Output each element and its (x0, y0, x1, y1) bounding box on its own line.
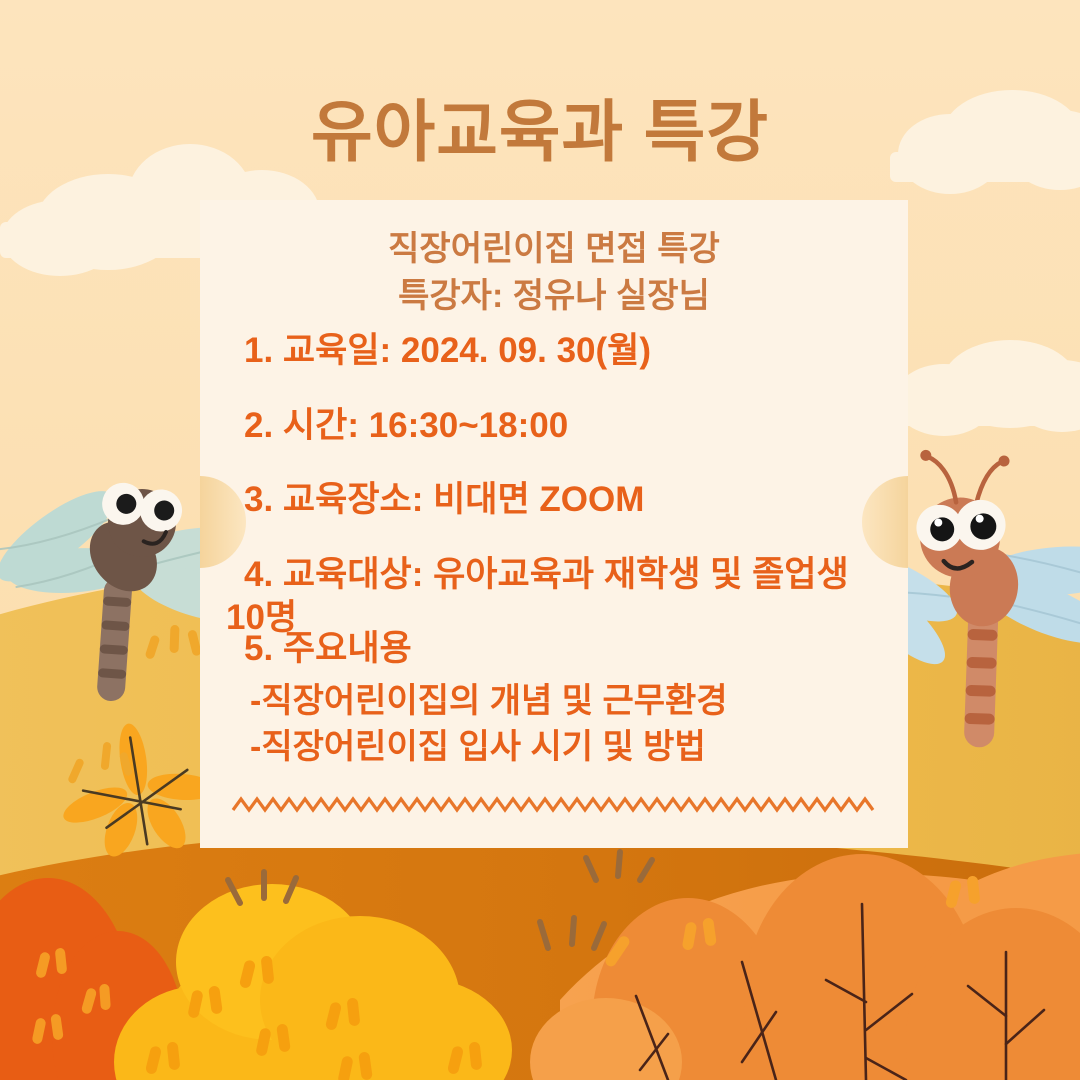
poster-canvas: 유아교육과 특강 직장어린이집 면접 특강 특강자: 정유나 실장님 1. 교육… (0, 0, 1080, 1080)
detail-item-time: 2. 시간: 16:30~18:00 (244, 405, 892, 448)
tree-orange-group (530, 852, 1080, 1080)
subtitle-line-2: 특강자: 정유나 실장님 (200, 273, 908, 320)
detail-item-education-date: 1. 교육일: 2024. 09. 30(월) (244, 330, 892, 373)
content-section: 5. 주요내용 -직장어린이집의 개념 및 근무환경 -직장어린이집 입사 시기… (244, 626, 892, 771)
bush-yellow (114, 872, 512, 1080)
content-section-heading: 5. 주요내용 (244, 626, 892, 672)
zigzag-divider (233, 794, 873, 816)
info-card: 직장어린이집 면접 특강 특강자: 정유나 실장님 1. 교육일: 2024. … (200, 200, 908, 848)
detail-item-audience-line1: 4. 교육대상: 유아교육과 재학생 및 졸업생 (244, 555, 849, 594)
subtitle-line-1: 직장어린이집 면접 특강 (200, 226, 908, 273)
subtitle-block: 직장어린이집 면접 특강 특강자: 정유나 실장님 (200, 226, 908, 320)
content-bullet-1: -직장어린이집의 개념 및 근무환경 (250, 678, 892, 725)
content-bullet-2: -직장어린이집 입사 시기 및 방법 (250, 724, 892, 771)
page-title: 유아교육과 특강 (0, 78, 1080, 175)
detail-item-location: 3. 교육장소: 비대면 ZOOM (244, 479, 892, 522)
detail-list: 1. 교육일: 2024. 09. 30(월) 2. 시간: 16:30~18:… (244, 330, 892, 671)
